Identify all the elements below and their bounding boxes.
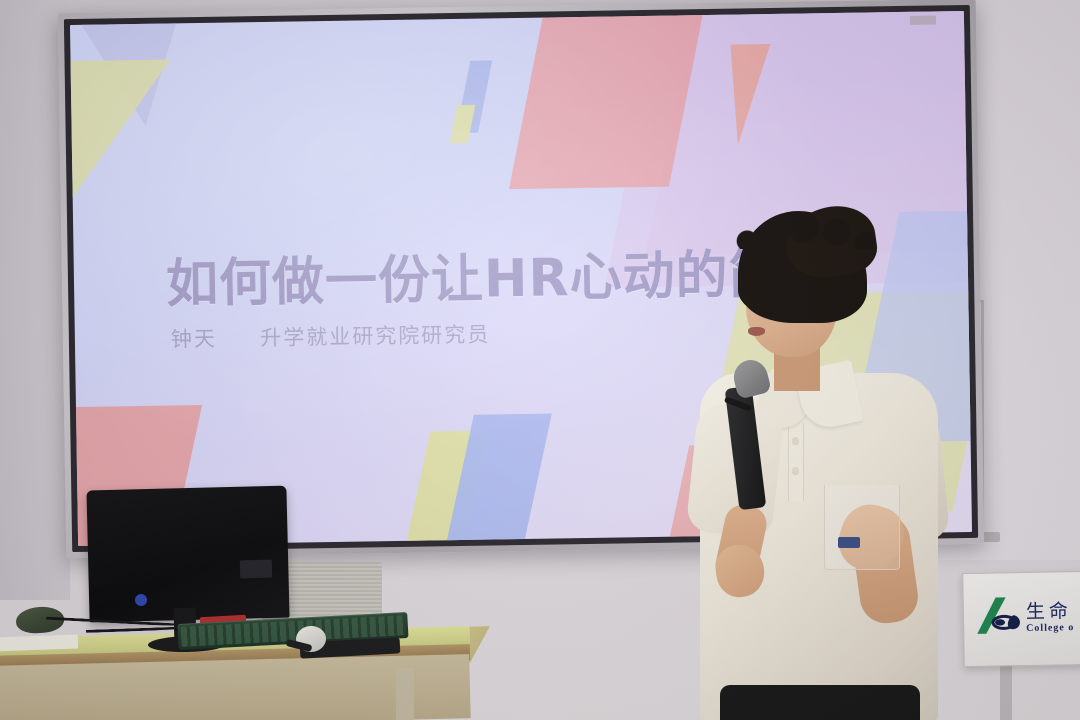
presenter-pants	[720, 685, 920, 720]
decor-yellow-triangle	[70, 59, 173, 211]
monitor-label-plate	[240, 560, 272, 579]
dna-helix-logo-icon	[976, 595, 1023, 636]
desk-leg	[396, 668, 414, 720]
display-brand-tag	[910, 15, 936, 24]
presentation-photo-scene: 如何做一份让HR心动的简历 钟天 升学就业研究院研究员	[0, 0, 1080, 720]
college-sign: 生命 College o	[962, 571, 1080, 667]
monitor-panel[interactable]	[86, 486, 289, 623]
sign-post	[1000, 660, 1012, 720]
decor-yellow-bar	[450, 105, 475, 143]
sign-chinese-text: 生命	[1026, 596, 1072, 624]
presenter-chest-pocket	[824, 485, 900, 570]
presenter-name: 钟天	[171, 327, 217, 352]
sign-english-text: College o	[1026, 622, 1074, 634]
presenter-mouth	[748, 327, 765, 336]
presenter-figure	[690, 215, 950, 720]
decor-pink-triangle-right	[730, 44, 772, 145]
presenter-shirt-button-1	[792, 437, 799, 444]
slide-subtitle: 钟天 升学就业研究院研究员	[171, 318, 491, 353]
presenter-pocket-logo	[838, 537, 860, 548]
presenter-shirt-placket	[788, 423, 804, 501]
presenter-hair-spikes	[736, 209, 876, 249]
presenter-role: 升学就业研究院研究员	[260, 322, 490, 350]
presenter-shirt-button-2	[792, 467, 799, 474]
blue-connector	[135, 594, 147, 606]
